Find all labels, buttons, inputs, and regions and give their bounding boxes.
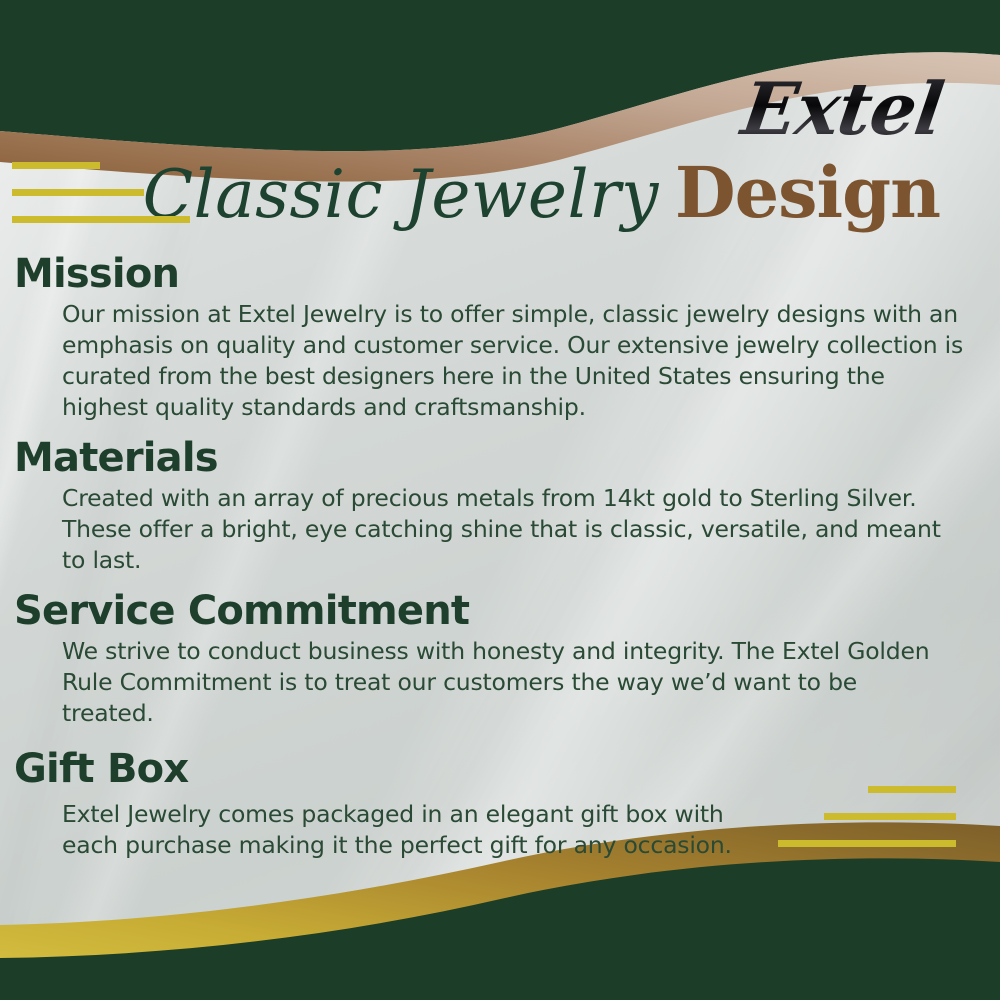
section-body-gift-box: Extel Jewelry comes packaged in an elega… bbox=[62, 799, 770, 861]
section-body-service-commitment: We strive to conduct business with hones… bbox=[62, 636, 945, 729]
title-bold-part: Design bbox=[675, 151, 940, 234]
section-mission: Mission Our mission at Extel Jewelry is … bbox=[0, 252, 1000, 423]
section-heading-materials: Materials bbox=[14, 436, 1000, 481]
accent-bar bbox=[12, 162, 100, 169]
section-body-materials: Created with an array of precious metals… bbox=[62, 483, 960, 576]
title-script-part: Classic Jewelry bbox=[143, 156, 659, 233]
section-materials: Materials Created with an array of preci… bbox=[0, 436, 1000, 576]
brand-logo: Extel bbox=[0, 73, 947, 145]
accent-bar bbox=[12, 216, 190, 223]
content-sections: Mission Our mission at Extel Jewelry is … bbox=[0, 252, 1000, 874]
section-body-mission: Our mission at Extel Jewelry is to offer… bbox=[62, 299, 972, 423]
poster-canvas: Extel Classic JewelryDesign Mission Our … bbox=[0, 0, 1000, 1000]
section-gift-box: Gift Box Extel Jewelry comes packaged in… bbox=[0, 747, 1000, 862]
accent-bar bbox=[12, 189, 144, 196]
section-heading-mission: Mission bbox=[14, 252, 1000, 297]
section-heading-service-commitment: Service Commitment bbox=[14, 589, 1000, 634]
section-heading-gift-box: Gift Box bbox=[14, 747, 1000, 792]
section-service-commitment: Service Commitment We strive to conduct … bbox=[0, 589, 1000, 729]
accent-lines-top-left bbox=[12, 162, 190, 223]
